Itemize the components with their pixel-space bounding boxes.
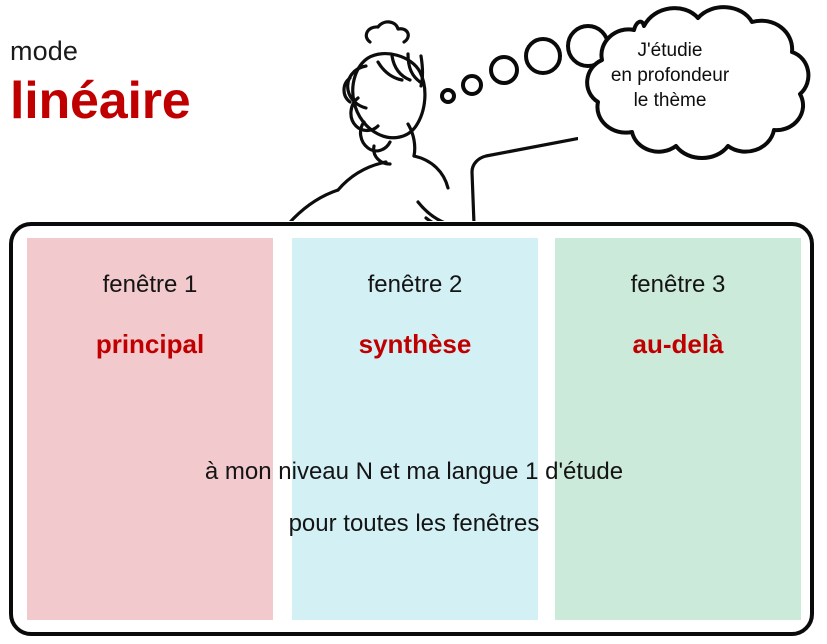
window-panel-2[interactable] bbox=[292, 238, 538, 620]
thought-bubble-line-1: J'étudie bbox=[570, 38, 770, 63]
thought-dot-3 bbox=[491, 57, 517, 83]
thought-bubble-line-3: le thème bbox=[570, 88, 770, 113]
thought-dot-2 bbox=[463, 76, 481, 94]
mode-label: mode bbox=[10, 34, 260, 68]
thought-bubble-line-2: en profondeur bbox=[570, 63, 770, 88]
thought-dot-1 bbox=[442, 90, 454, 102]
mode-heading: mode linéaire bbox=[10, 34, 260, 130]
mode-value: linéaire bbox=[10, 72, 260, 130]
window-panel-3[interactable] bbox=[555, 238, 801, 620]
thought-dot-4 bbox=[526, 39, 560, 73]
window-panel-1[interactable] bbox=[27, 238, 273, 620]
thought-bubble-text: J'étudie en profondeur le thème bbox=[570, 38, 770, 113]
